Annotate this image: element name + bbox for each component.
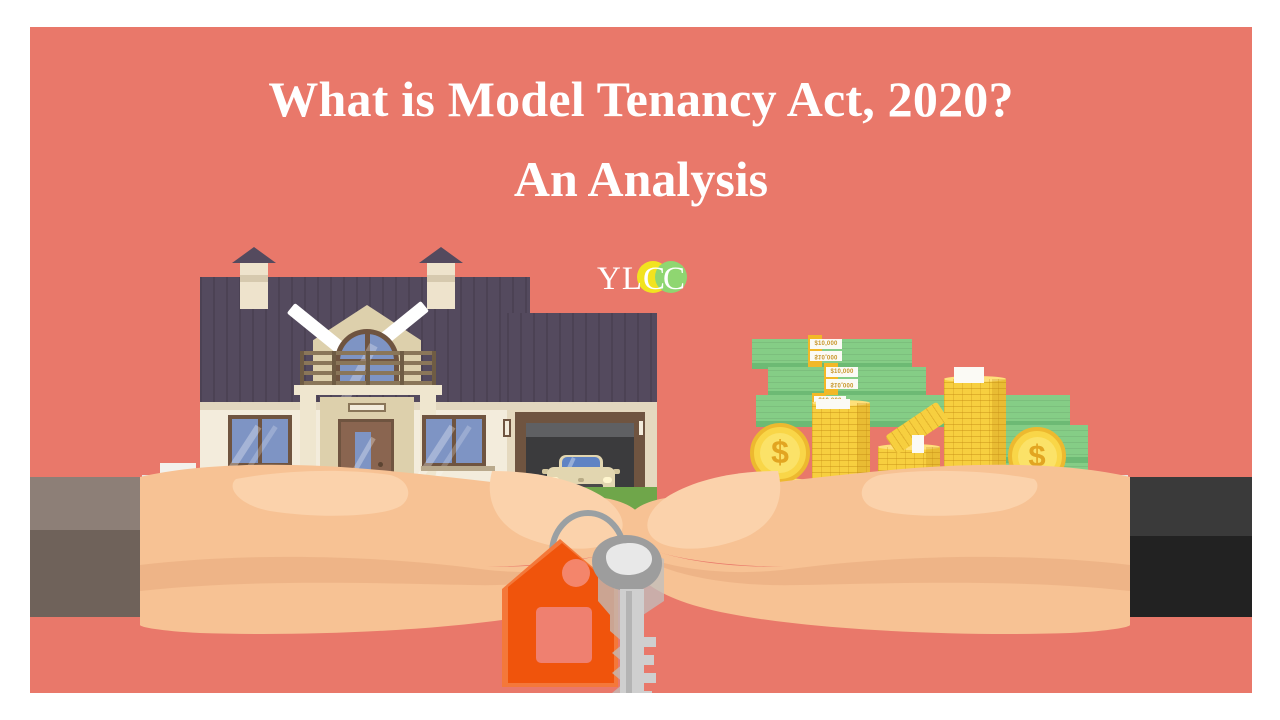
house-roof-garage — [507, 313, 657, 407]
paper-slip-3 — [912, 435, 924, 453]
garage-lamp-left-icon — [503, 419, 511, 437]
right-arm-sleeve — [1120, 477, 1252, 617]
door-transom-window — [348, 403, 386, 412]
paper-slip-1 — [816, 399, 850, 409]
logo-text-c2: C — [663, 263, 685, 296]
garage-lamp-right-icon — [637, 419, 645, 437]
poster-canvas: What is Model Tenancy Act, 2020? An Anal… — [0, 0, 1280, 720]
bill-band-label-2: $10,000 — [826, 367, 858, 377]
page-title-line-1: What is Model Tenancy Act, 2020? — [30, 72, 1252, 126]
logo-wordmark: YL C C — [597, 257, 685, 301]
poster-panel: What is Model Tenancy Act, 2020? An Anal… — [30, 27, 1252, 693]
logo-text-yl: YL — [597, 263, 643, 296]
keychain-window-cutout — [536, 607, 592, 663]
page-title-line-2: An Analysis — [30, 152, 1252, 206]
bill-band-label-2-mirror: $10,000 — [826, 379, 858, 389]
key-head-hole — [606, 543, 652, 575]
logo-text-c1: C — [643, 263, 665, 296]
balcony-railing — [300, 351, 436, 387]
left-arm-sleeve — [30, 477, 150, 617]
bill-band-label-1: $10,000 — [810, 339, 842, 349]
house-keys — [480, 497, 710, 693]
garage-door-header — [526, 423, 634, 437]
key-shaft-groove — [626, 591, 632, 693]
paper-slip-2 — [954, 367, 984, 383]
chimney-left-icon — [240, 261, 268, 309]
key-teeth — [644, 637, 656, 693]
bill-band-label-1-mirror: $10,000 — [810, 351, 842, 361]
keychain-hole — [562, 559, 590, 587]
chimney-right-icon — [427, 261, 455, 309]
balcony-floor — [294, 385, 442, 395]
